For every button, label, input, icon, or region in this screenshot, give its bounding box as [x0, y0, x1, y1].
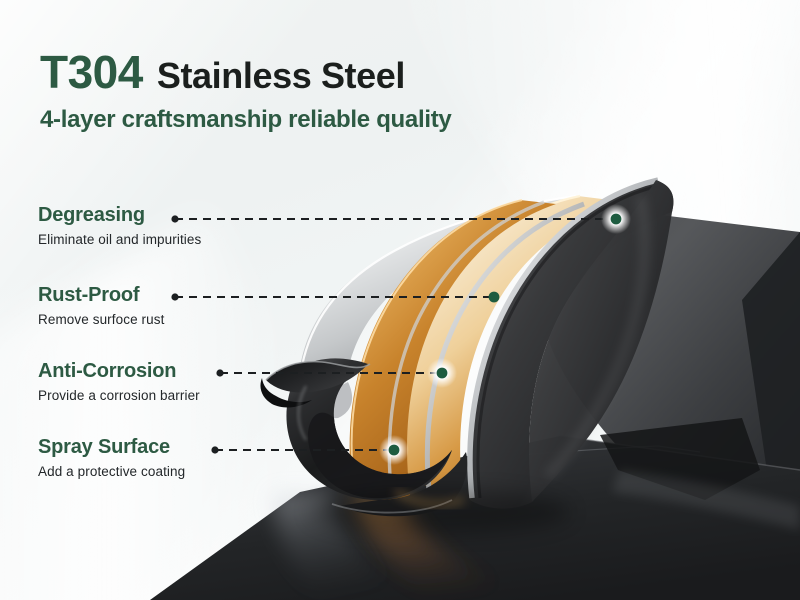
- page-title-code: T304: [40, 48, 143, 96]
- header-block: T304 Stainless Steel 4-layer craftsmansh…: [40, 48, 600, 134]
- feature-description: Provide a corrosion barrier: [38, 388, 338, 403]
- feature-title: Degreasing: [38, 204, 338, 227]
- contact-shadow: [310, 490, 570, 534]
- feature-title: Rust-Proof: [38, 284, 338, 307]
- page-title-main: Stainless Steel: [157, 57, 405, 95]
- feature-description: Remove surfoce rust: [38, 312, 338, 327]
- feature-title: Spray Surface: [38, 436, 338, 459]
- feature-anti-corrosion: Anti-Corrosion Provide a corrosion barri…: [38, 360, 338, 403]
- infographic-canvas: T304 Stainless Steel 4-layer craftsmansh…: [0, 0, 800, 600]
- feature-rust-proof: Rust-Proof Remove surfoce rust: [38, 284, 338, 327]
- feature-title: Anti-Corrosion: [38, 360, 338, 383]
- feature-description: Add a protective coating: [38, 464, 338, 479]
- feature-spray-surface: Spray Surface Add a protective coating: [38, 436, 338, 479]
- feature-description: Eliminate oil and impurities: [38, 232, 338, 247]
- page-subtitle: 4-layer craftsmanship reliable quality: [40, 106, 600, 134]
- title-line: T304 Stainless Steel: [40, 48, 600, 96]
- feature-degreasing: Degreasing Eliminate oil and impurities: [38, 204, 338, 247]
